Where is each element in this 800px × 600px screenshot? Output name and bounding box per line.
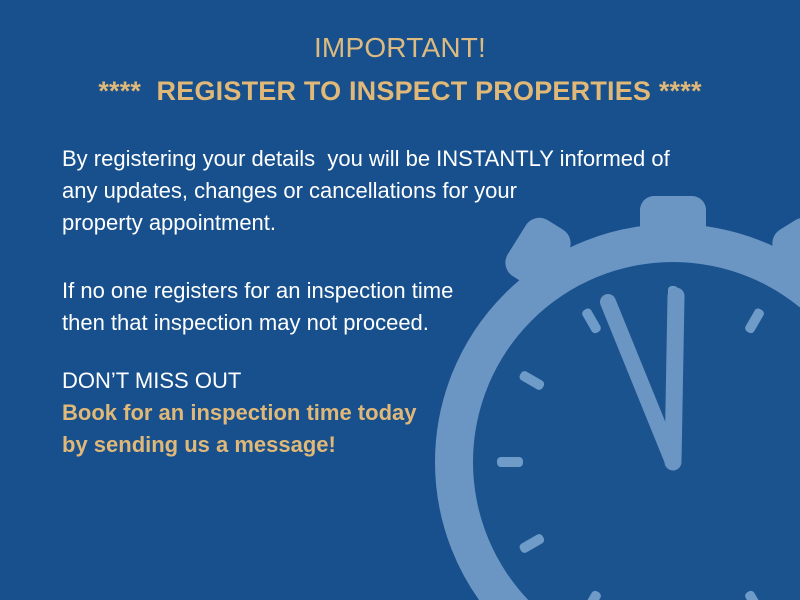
call-to-action-block: DON’T MISS OUT Book for an inspection ti… (62, 365, 622, 461)
text-layer: IMPORTANT! **** REGISTER TO INSPECT PROP… (0, 0, 800, 600)
headline-register-to-inspect-properties: **** REGISTER TO INSPECT PROPERTIES **** (0, 73, 800, 109)
body-paragraph-registering-benefits: By registering your details you will be … (62, 143, 762, 239)
cta-send-message: by sending us a message! (62, 429, 622, 461)
headline-block: IMPORTANT! **** REGISTER TO INSPECT PROP… (0, 31, 800, 109)
cta-book-inspection: Book for an inspection time today (62, 397, 622, 429)
cta-dont-miss-out: DON’T MISS OUT (62, 365, 622, 397)
promo-slide: IMPORTANT! **** REGISTER TO INSPECT PROP… (0, 0, 800, 600)
body-paragraph-no-registration-warning: If no one registers for an inspection ti… (62, 275, 622, 339)
headline-important: IMPORTANT! (0, 31, 800, 65)
